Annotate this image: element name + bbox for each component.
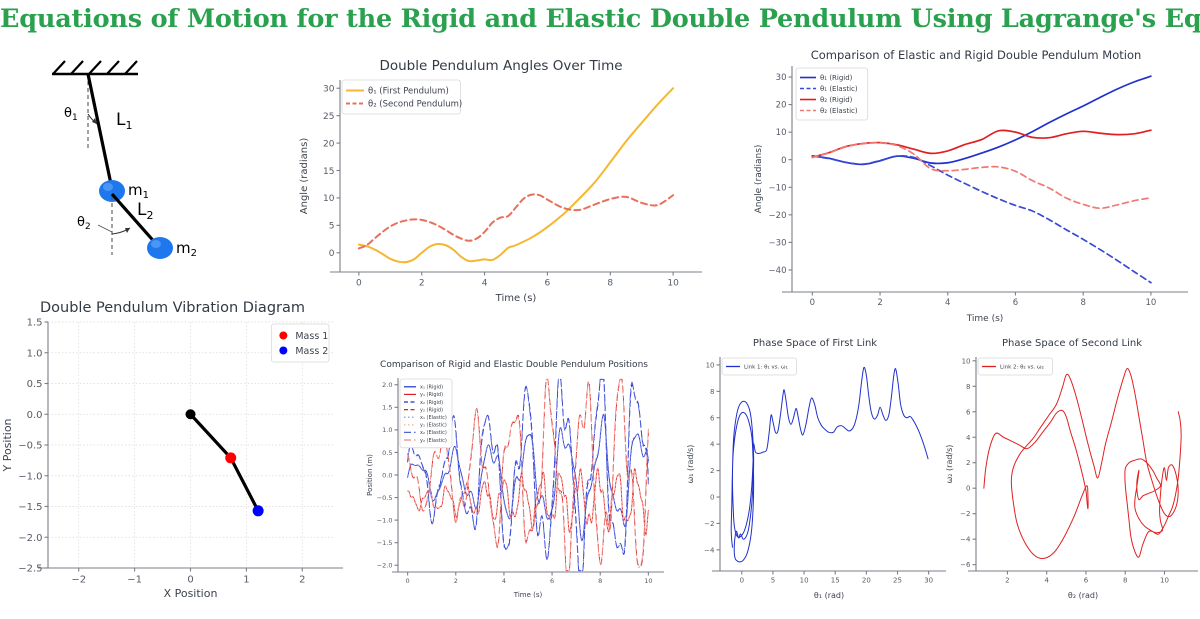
y-tick-label: 1.0 [27, 348, 43, 359]
chart-svg: 0246810051015202530Time (s)Angle (radian… [296, 72, 706, 302]
y-axis-label: ω₁ (rad/s) [686, 445, 695, 484]
chart-vibration-diagram: Double Pendulum Vibration Diagram −2−101… [0, 300, 345, 600]
y-tick-label: 1.5 [27, 318, 43, 329]
x-axis-label: Time (s) [495, 293, 537, 304]
chart-angles-over-time: Double Pendulum Angles Over Time 0246810… [296, 58, 706, 303]
pendulum-schematic-svg: θ1 L1 m1 θ2 L2 m2 [20, 52, 285, 292]
x-tick-label: 6 [550, 577, 554, 585]
x-tick-label: 5 [771, 577, 775, 585]
y-tick-label: −2 [704, 520, 714, 528]
y-tick-label: −0.5 [18, 441, 42, 452]
chart-legend: Link 1: θ₁ vs. ω₁ [722, 358, 797, 375]
x-tick-label: 6 [545, 279, 551, 289]
x-tick-label: 0 [810, 298, 815, 308]
x-tick-label: 1 [243, 575, 249, 586]
y-tick-label: −1.5 [377, 539, 393, 547]
y-tick-label: −4 [960, 536, 971, 544]
y-axis-label: Position (m) [366, 454, 374, 496]
chart-legend: x₁ (Rigid)y₁ (Rigid)x₂ (Rigid)y₂ (Rigid)… [400, 379, 452, 448]
y-tick-label: −0.5 [377, 494, 393, 502]
legend-label: θ₁ (First Pendulum) [368, 87, 449, 97]
x-tick-label: 10 [1145, 298, 1156, 308]
y-tick-label: −2.0 [18, 533, 42, 544]
y-axis-label: Y Position [1, 418, 14, 472]
y-tick-label: 10 [962, 357, 971, 365]
chart-title: Phase Space of Second Link [944, 338, 1200, 349]
y-tick-label: 4 [966, 434, 971, 442]
y-tick-label: 0.0 [27, 410, 43, 421]
x-tick-label: 10 [667, 279, 679, 289]
chart-rigid-vs-elastic-positions: Comparison of Rigid and Elastic Double P… [364, 360, 664, 600]
x-tick-label: 15 [831, 577, 840, 585]
x-tick-label: 4 [482, 279, 488, 289]
series-line [359, 194, 673, 248]
y-tick-label: 30 [323, 84, 335, 94]
series-line [408, 468, 649, 535]
x-tick-label: 4 [502, 577, 506, 585]
legend-label: θ₂ (Rigid) [820, 96, 853, 104]
x-tick-label: 0 [406, 577, 410, 585]
plot-area: 246810−6−4−20246810θ₂ (rad)ω₂ (rad/s)Lin… [944, 349, 1200, 599]
y-tick-label: −4 [704, 546, 715, 554]
chart-svg: 0246810−2.0−1.5−1.0−0.50.00.51.01.52.0Ti… [364, 370, 664, 598]
y-tick-label: 6 [966, 408, 971, 416]
pendulum-schematic-panel: θ1 L1 m1 θ2 L2 m2 [20, 52, 285, 292]
mass-2-highlight-icon [151, 240, 161, 248]
mass-2-bob [147, 237, 173, 259]
legend-label: y₁ (Elastic) [420, 423, 447, 429]
x-axis-label: θ₂ (rad) [1068, 591, 1098, 600]
theta2-label: θ2 [77, 215, 91, 232]
y-tick-label: 25 [323, 112, 334, 122]
x-tick-label: 10 [800, 577, 809, 585]
legend-marker [279, 332, 287, 340]
y-tick-label: 20 [323, 139, 335, 149]
x-tick-label: 2 [877, 298, 882, 308]
legend-label: x₁ (Elastic) [420, 415, 447, 421]
x-tick-label: 30 [924, 577, 933, 585]
legend-label: θ₂ (Elastic) [820, 107, 858, 115]
chart-legend: θ₁ (First Pendulum)θ₂ (Second Pendulum) [342, 80, 462, 114]
y-tick-label: 8 [966, 383, 970, 391]
y-axis-label: ω₂ (rad/s) [945, 445, 954, 484]
legend-label: θ₂ (Second Pendulum) [368, 100, 462, 110]
x-axis-label: X Position [164, 587, 218, 600]
x-tick-label: 4 [1044, 577, 1049, 585]
x-axis-label: Time (s) [513, 591, 543, 599]
y-tick-label: 0 [329, 249, 335, 259]
chart-svg: 246810−6−4−20246810θ₂ (rad)ω₂ (rad/s)Lin… [944, 349, 1200, 599]
chart-elastic-vs-rigid-motion: Comparison of Elastic and Rigid Double P… [752, 48, 1200, 323]
plot-area: 0246810−40−30−20−100102030Time (s)Angle … [752, 60, 1200, 322]
page-title: Equations of Motion for the Rigid and El… [0, 4, 1200, 34]
x-tick-label: −1 [127, 575, 142, 586]
series-line [984, 368, 1181, 558]
legend-label: y₂ (Elastic) [420, 438, 447, 444]
x-tick-label: 2 [419, 279, 425, 289]
x-tick-label: 10 [644, 577, 652, 585]
y-axis-label: Angle (radians) [299, 138, 310, 215]
y-tick-label: 8 [710, 388, 714, 396]
series-line [812, 156, 1151, 283]
legend-label: Mass 2 [295, 346, 328, 357]
y-tick-label: 0.5 [382, 449, 392, 457]
chart-title: Double Pendulum Vibration Diagram [0, 300, 345, 316]
x-tick-label: 8 [1123, 577, 1127, 585]
y-tick-label: 30 [776, 73, 787, 83]
y-tick-label: −1.5 [18, 502, 42, 513]
plot-area: 0246810−2.0−1.5−1.0−0.50.00.51.01.52.0Ti… [364, 370, 664, 598]
legend-label: Link 1: θ₁ vs. ω₁ [744, 364, 788, 370]
m1-label: m1 [128, 181, 149, 201]
x-tick-label: −2 [71, 575, 86, 586]
y-tick-label: 1.5 [382, 404, 392, 412]
y-tick-label: 0.5 [27, 379, 43, 390]
y-tick-label: 5 [329, 222, 335, 232]
x-tick-label: 6 [1013, 298, 1018, 308]
y-tick-label: 10 [706, 361, 715, 369]
y-tick-label: −10 [769, 183, 787, 193]
legend-label: θ₁ (Rigid) [820, 74, 853, 82]
x-tick-label: 0 [187, 575, 193, 586]
pendulum-rod [191, 414, 259, 511]
ceiling-hatch-icon [53, 61, 137, 74]
x-axis-label: Time (s) [966, 314, 1004, 324]
legend-label: x₁ (Rigid) [420, 385, 443, 391]
y-tick-label: 20 [776, 101, 787, 111]
m2-label: m2 [176, 239, 197, 259]
y-tick-label: −6 [960, 561, 971, 569]
y-tick-label: −20 [769, 211, 787, 221]
y-axis-label: Angle (radians) [754, 145, 764, 214]
x-tick-label: 8 [1080, 298, 1085, 308]
chart-svg: −2−1012−2.5−2.0−1.5−1.0−0.50.00.51.01.5X… [0, 316, 345, 598]
x-tick-label: 8 [607, 279, 613, 289]
x-tick-label: 2 [299, 575, 305, 586]
mass-1-highlight-icon [103, 183, 113, 191]
x-tick-label: 4 [945, 298, 950, 308]
chart-title: Phase Space of First Link [684, 338, 946, 349]
y-tick-label: 0 [781, 156, 786, 166]
x-tick-label: 2 [454, 577, 458, 585]
l1-label: L1 [116, 110, 132, 132]
plot-area: −2−1012−2.5−2.0−1.5−1.0−0.50.00.51.01.5X… [0, 316, 345, 598]
y-tick-label: −1.0 [377, 516, 393, 524]
chart-phase-space-second-link: Phase Space of Second Link 246810−6−4−20… [944, 338, 1200, 600]
y-tick-label: 4 [710, 441, 715, 449]
y-tick-label: 0 [710, 494, 714, 502]
x-tick-label: 0 [740, 577, 744, 585]
rod-l1 [88, 74, 112, 189]
chart-svg: 051015202530−4−20246810θ₁ (rad)ω₁ (rad/s… [684, 349, 946, 599]
chart-legend: Link 2: θ₂ vs. ω₂ [978, 358, 1053, 375]
x-tick-label: 6 [1084, 577, 1089, 585]
y-tick-label: 10 [776, 128, 787, 138]
y-tick-label: 15 [323, 167, 334, 177]
legend-label: y₂ (Rigid) [420, 407, 443, 413]
y-tick-label: 2.0 [382, 381, 392, 389]
chart-title: Comparison of Rigid and Elastic Double P… [364, 360, 664, 370]
mass-marker [225, 452, 236, 463]
y-tick-label: 10 [323, 194, 335, 204]
x-tick-label: 20 [862, 577, 871, 585]
y-tick-label: 2 [966, 459, 970, 467]
chart-svg: 0246810−40−30−20−100102030Time (s)Angle … [752, 60, 1200, 322]
x-tick-label: 2 [1005, 577, 1009, 585]
l2-label: L2 [137, 200, 153, 222]
legend-label: Mass 1 [295, 331, 328, 342]
y-tick-label: −1.0 [18, 471, 42, 482]
chart-legend: θ₁ (Rigid)θ₁ (Elastic)θ₂ (Rigid)θ₂ (Elas… [796, 68, 868, 120]
theta1-label: θ1 [64, 106, 78, 123]
y-tick-label: 0 [966, 485, 970, 493]
y-tick-label: −30 [769, 238, 787, 248]
y-tick-label: −40 [769, 266, 787, 276]
plot-area: 051015202530−4−20246810θ₁ (rad)ω₁ (rad/s… [684, 349, 946, 599]
legend-label: θ₁ (Elastic) [820, 85, 858, 93]
x-tick-label: 10 [1160, 577, 1169, 585]
plot-area: 0246810051015202530Time (s)Angle (radian… [296, 72, 706, 302]
x-axis-label: θ₁ (rad) [814, 591, 844, 600]
y-tick-label: 6 [710, 414, 715, 422]
y-tick-label: −2.0 [377, 562, 393, 570]
legend-label: y₁ (Rigid) [420, 392, 443, 398]
theta2-leader [98, 225, 112, 232]
chart-legend: Mass 1Mass 2 [271, 324, 329, 362]
y-tick-label: −2.5 [18, 564, 42, 575]
series-line [731, 367, 928, 562]
x-tick-label: 0 [356, 279, 362, 289]
legend-label: x₂ (Rigid) [420, 400, 443, 406]
legend-label: x₂ (Elastic) [420, 430, 447, 436]
mass-marker [253, 505, 264, 516]
chart-phase-space-first-link: Phase Space of First Link 051015202530−4… [684, 338, 946, 600]
y-tick-label: 0.0 [382, 471, 392, 479]
y-tick-label: −2 [960, 510, 970, 518]
y-tick-label: 1.0 [382, 426, 392, 434]
x-tick-label: 25 [893, 577, 902, 585]
x-tick-label: 8 [598, 577, 602, 585]
legend-marker [279, 347, 287, 355]
y-tick-label: 2 [710, 467, 714, 475]
legend-label: Link 2: θ₂ vs. ω₂ [1000, 364, 1044, 370]
pivot-point [186, 409, 196, 419]
